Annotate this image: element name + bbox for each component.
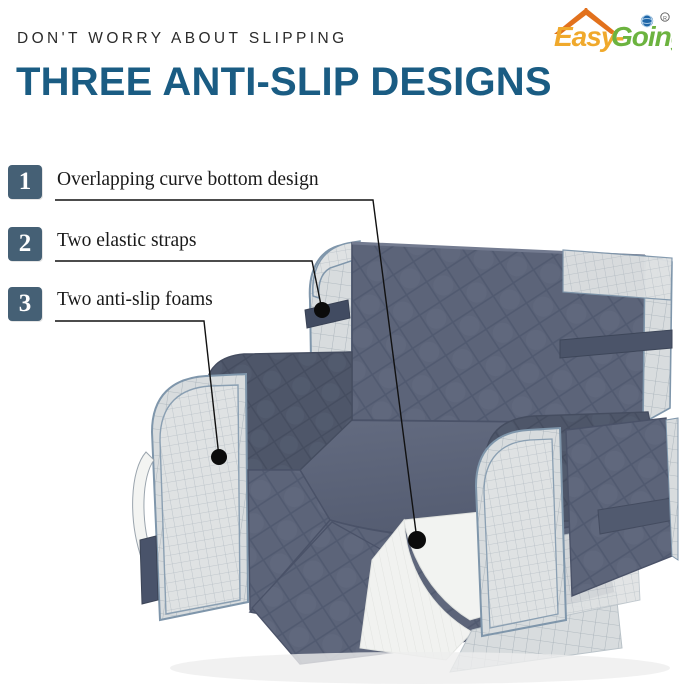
callout-badge-3: 3 [8, 287, 42, 321]
chair-backrest [310, 241, 672, 423]
callout-label-1: Overlapping curve bottom design [57, 169, 319, 191]
callout-badge-1: 1 [8, 165, 42, 199]
armchair-slipcover-photo [0, 0, 679, 694]
callout-label-3: Two anti-slip foams [57, 289, 213, 311]
callout-label-2: Two elastic straps [57, 230, 196, 252]
callout-badge-2: 2 [8, 227, 42, 261]
